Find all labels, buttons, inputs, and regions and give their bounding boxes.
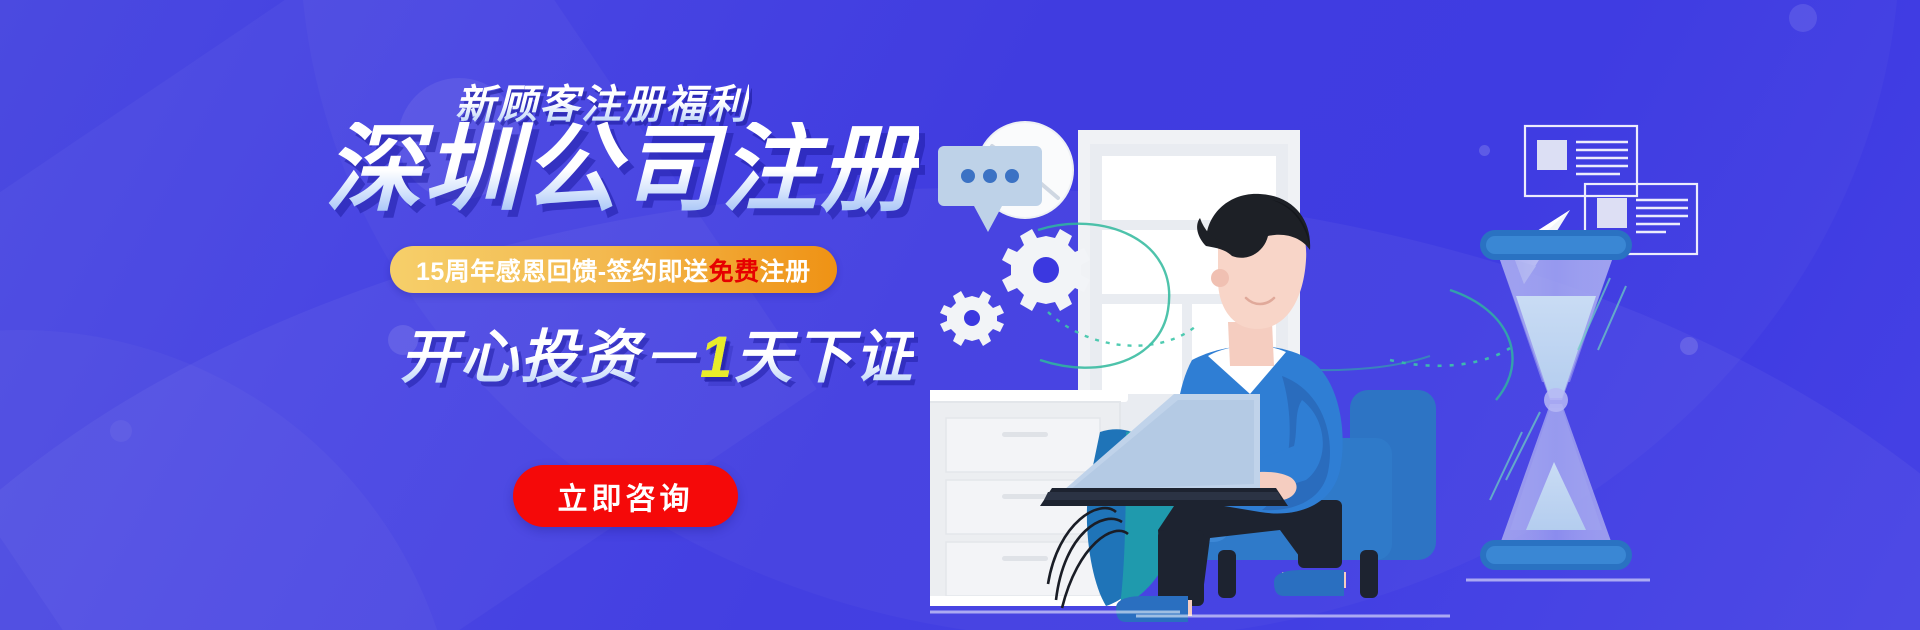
subline-after-text: 天下证 [734, 325, 914, 390]
banner-headline: 深圳公司注册 [325, 122, 919, 218]
banner-copy-block: 新顾客注册福利 深圳公司注册 15周年感恩回馈-签约即送 免费 注册 开心投资－… [0, 0, 980, 630]
subline-number: 1 [700, 325, 734, 390]
promo-banner: 新顾客注册福利 深圳公司注册 15周年感恩回馈-签约即送 免费 注册 开心投资－… [0, 0, 1920, 630]
badge-suffix-text: 注册 [760, 252, 811, 288]
gears-icon [940, 229, 1090, 346]
subline-before-text: 开心投资－ [400, 325, 700, 390]
consult-now-button[interactable]: 立即咨询 [513, 465, 738, 527]
anniversary-offer-badge: 15周年感恩回馈-签约即送 免费 注册 [390, 246, 837, 293]
hero-illustration [930, 60, 1920, 630]
chat-bubble-icon [938, 146, 1042, 232]
banner-subline: 开心投资－1天下证 [400, 310, 914, 394]
hourglass-icon [1480, 230, 1632, 570]
consult-now-button-label: 立即咨询 [558, 474, 694, 518]
badge-prefix-text: 15周年感恩回馈-签约即送 [416, 252, 709, 288]
badge-highlight-text: 免费 [709, 252, 760, 288]
decorative-circle [1789, 4, 1817, 32]
